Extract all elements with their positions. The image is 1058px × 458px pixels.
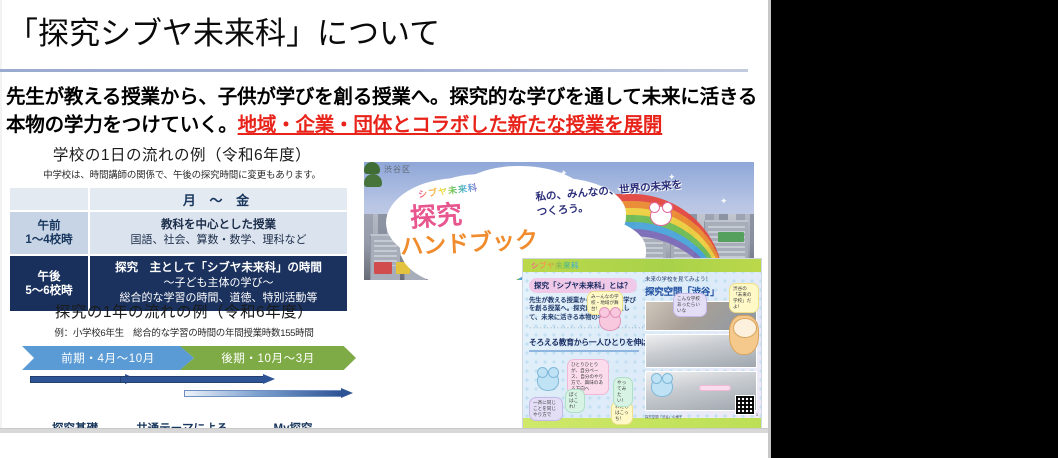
arrow-head-icon — [263, 374, 275, 384]
daily-schedule-note: 中学校は、時間講師の関係で、午後の探究時間に変更もあります。 — [8, 167, 356, 181]
daily-schedule-heading: 学校の1日の流れの例（令和6年度） — [8, 143, 356, 165]
yearly-timeline-heading: 探究の1年の流れの例（令和6年度） — [8, 300, 360, 322]
table-header-days: 月 ～ 金 — [90, 188, 347, 210]
table-header-row: 月 ～ 金 — [10, 188, 347, 210]
term-chevron-second: 後期・10月～3月 — [180, 346, 356, 370]
meeting-screen-share-window: 「探究シブヤ未来科」について 先生が教える授業から、子供が学びを創る授業へ。探究… — [0, 0, 1058, 458]
table-row: 午前 1～4校時 教科を中心とした授業 国語、社会、算数・数学、理科など — [10, 212, 347, 254]
phase-arrow-group — [8, 374, 360, 418]
row-content-sub: 国語、社会、算数・数学、理科など — [94, 233, 343, 248]
row-content-main: 教科を中心とした授業 — [94, 218, 343, 233]
mascot-child-figure — [651, 377, 673, 397]
right-page-kicker: 未来の学校を見てみよう！ — [645, 275, 757, 283]
page-number: 3 — [756, 413, 758, 417]
phase-arrow-2 — [120, 374, 276, 385]
arrow-bar — [184, 390, 342, 397]
slide-title: 「探究シブヤ未来科」について — [7, 16, 440, 52]
row-time-periods: 5～6校時 — [10, 284, 88, 298]
mascot-dog-face — [733, 318, 757, 338]
row-time-label: 午後 — [10, 270, 88, 284]
mascot-icon — [650, 206, 672, 226]
speech-bubble: やってみたい！ — [613, 377, 633, 407]
qr-code — [735, 395, 755, 415]
right-page-caption: 探究空間「渋谷」の様子 — [645, 415, 757, 420]
left-page-fineprint: ・・・・・・・・・・・・・・・・・・・・・・・・・・・・・・・・・・・・・・・・… — [529, 326, 639, 331]
row-content-main: 探究 主として「シブヤ未来科」の時間 — [94, 261, 343, 276]
arrow-bar — [120, 376, 264, 383]
slide-bottom-margin — [0, 433, 768, 458]
row-content-sub2: ～子ども主体の学び～ — [94, 276, 343, 291]
row-content-morning: 教科を中心とした授業 国語、社会、算数・数学、理科など — [90, 212, 347, 254]
phase-arrow-3 — [184, 388, 354, 399]
speech-bubble — [699, 385, 731, 391]
participant-video-pane[interactable]: (講師) 北村俊生 — [768, 0, 1058, 458]
arrow-head-icon — [341, 388, 353, 398]
row-time-periods: 1～4校時 — [10, 233, 88, 247]
table-header-blank — [10, 188, 88, 210]
term-chevron-group: 前期・4月～10月 後期・10月～3月 — [8, 346, 356, 370]
arrow-bar — [30, 376, 126, 383]
title-divider — [0, 69, 748, 72]
daily-schedule-block: 学校の1日の流れの例（令和6年度） 中学校は、時間講師の関係で、午後の探究時間に… — [8, 143, 356, 313]
row-time-label: 午前 — [10, 219, 88, 233]
handbook-title-line2: ハンドブック — [399, 220, 539, 261]
shibuya-ward-logo: 渋谷区 — [384, 164, 411, 175]
shared-slide-region: 「探究シブヤ未来科」について 先生が教える授業から、子供が学びを創る授業へ。探究… — [0, 0, 768, 458]
left-page-heading: 探究「シブヤ未来科」とは？ — [529, 278, 637, 293]
mascot-bear-blue — [537, 371, 559, 391]
handbook-spread-image: シブヤ未来科 探究「シブヤ未来科」とは？ 先生が教える授業から、子どもが学びを創… — [522, 258, 762, 430]
speech-bubble: こんな学校あったらいいな — [673, 293, 707, 317]
speech-bubble: 渋谷の「未来の学校」だよ！ — [729, 283, 759, 313]
mascot-dog — [729, 315, 759, 355]
slide-left-edge — [0, 0, 2, 430]
term-chevron-first: 前期・4月～10月 — [22, 346, 194, 370]
pane-separator — [768, 0, 771, 458]
subheading-rule — [529, 350, 639, 352]
row-time-morning: 午前 1～4校時 — [10, 212, 88, 254]
slide-canvas: 「探究シブヤ未来科」について 先生が教える授業から、子供が学びを創る授業へ。探究… — [0, 0, 768, 430]
daily-schedule-table: 月 ～ 金 午前 1～4校時 教科を中心とした授業 国語、社会、算数・数学、理科… — [8, 186, 349, 313]
slide-lead-paragraph: 先生が教える授業から、子供が学びを創る授業へ。探究的な学びを通して未来に活きる本… — [6, 83, 762, 139]
spread-band-label: シブヤ未来科 — [531, 260, 579, 271]
speech-bubble: ぼくはこれ！ — [565, 389, 585, 413]
left-page-subheading: そろえる教育から一人ひとりを伸ばす教育へ — [529, 337, 639, 348]
lead-text-emphasis: 地域・企業・団体とコラボした新たな授業を展開 — [238, 114, 663, 136]
speech-bubble: 一斉に同じことを同じやり方で — [529, 397, 563, 421]
mascot-bear-pink — [599, 311, 621, 331]
spread-left-page: 探究「シブヤ未来科」とは？ 先生が教える授業から、子どもが学びを創る授業へ。探究… — [529, 275, 639, 355]
yearly-timeline-note: 例：小学校6年生 総合的な学習の時間の年間授業時数155時間 — [8, 325, 360, 339]
